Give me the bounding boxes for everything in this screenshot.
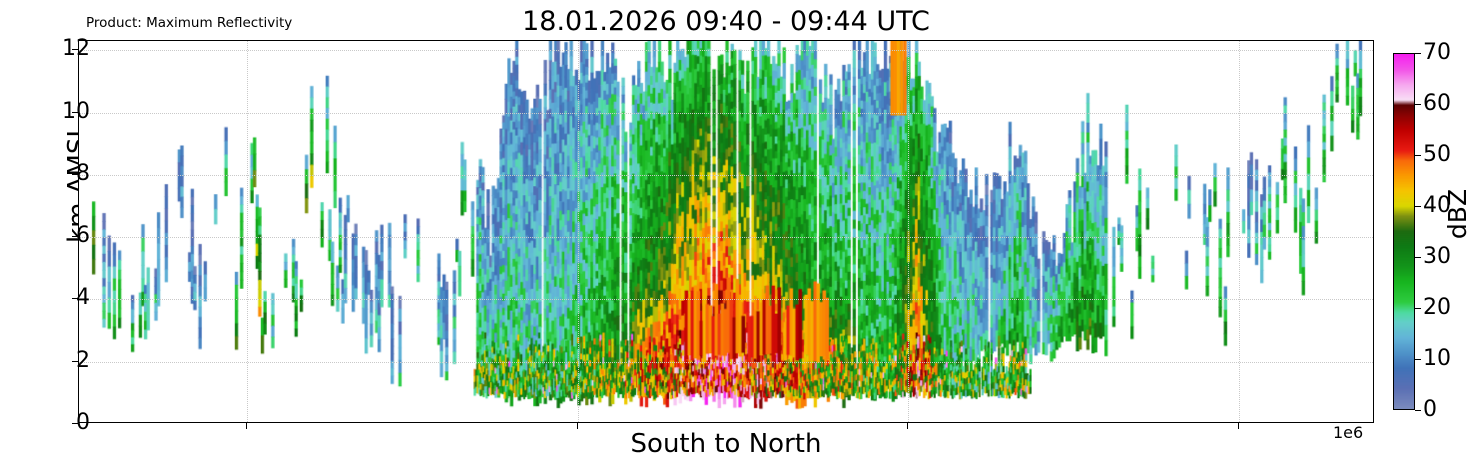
colorbar-tick-label: 40 [1423, 195, 1451, 217]
y-tick-label: 4 [50, 287, 90, 309]
colorbar-tick-mark [1415, 257, 1421, 258]
colorbar-tick-label: 50 [1423, 144, 1451, 166]
colorbar-tick-mark [1415, 155, 1421, 156]
y-tick-mark [72, 423, 78, 424]
x-tick-mark [907, 423, 908, 429]
y-tick-mark [72, 236, 78, 237]
colorbar-tick-label: 30 [1423, 246, 1451, 268]
reflectivity-heatmap [79, 41, 1373, 422]
x-axis-label: South to North [78, 429, 1374, 459]
colorbar-tick-mark [1415, 410, 1421, 411]
colorbar-tick-label: 20 [1423, 297, 1451, 319]
x-axis-offset-text: 1e6 [1333, 424, 1363, 442]
product-annotation: Product: Maximum Reflectivity [86, 15, 292, 31]
colorbar-tick-mark [1415, 104, 1421, 105]
y-tick-mark [72, 174, 78, 175]
y-tick-label: 0 [50, 412, 90, 434]
y-tick-label: 2 [50, 350, 90, 372]
colorbar-tick-mark [1415, 308, 1421, 309]
y-tick-mark [72, 112, 78, 113]
colorbar-tick-label: 10 [1423, 348, 1451, 370]
y-tick-label: 12 [50, 38, 90, 60]
plot-area[interactable] [78, 40, 1374, 423]
colorbar-tick-label: 0 [1423, 399, 1437, 421]
x-tick-mark [1238, 423, 1239, 429]
colorbar-tick-mark [1415, 206, 1421, 207]
x-tick-mark [577, 423, 578, 429]
radar-figure: 18.01.2026 09:40 - 09:44 UTC Product: Ma… [0, 0, 1482, 470]
y-tick-label: 8 [50, 163, 90, 185]
y-tick-label: 6 [50, 225, 90, 247]
x-tick-mark [246, 423, 247, 429]
colorbar-gradient [1394, 54, 1414, 409]
y-tick-label: 10 [50, 101, 90, 123]
y-tick-mark [72, 361, 78, 362]
colorbar-tick-mark [1415, 53, 1421, 54]
colorbar-tick-label: 70 [1423, 42, 1451, 64]
colorbar-tick-label: 60 [1423, 93, 1451, 115]
y-tick-mark [72, 298, 78, 299]
y-tick-mark [72, 49, 78, 50]
colorbar[interactable] [1393, 53, 1415, 410]
colorbar-tick-mark [1415, 359, 1421, 360]
